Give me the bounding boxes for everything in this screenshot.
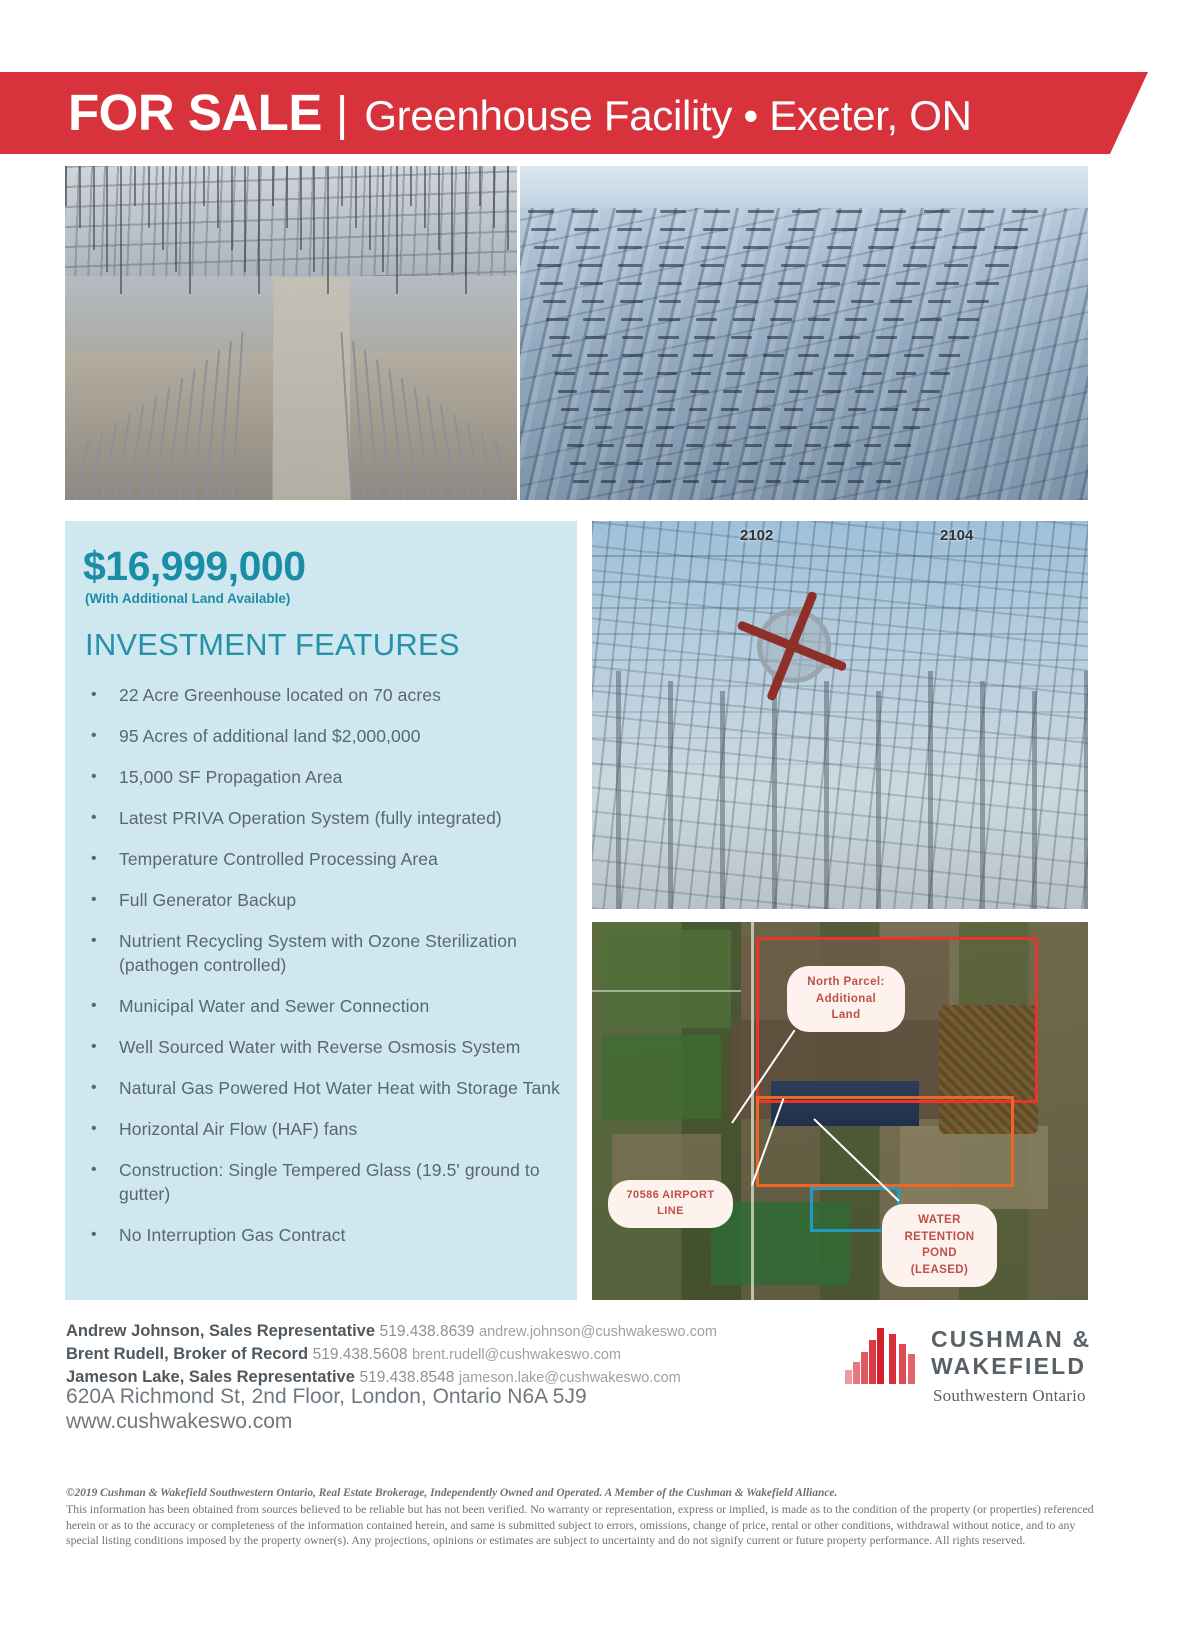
roof-vent	[659, 300, 682, 303]
hanging-wire	[465, 166, 467, 294]
roof-vent	[658, 336, 679, 339]
for-sale-title: FOR SALE	[68, 87, 322, 138]
hero-photo-strip	[65, 166, 1088, 500]
map-field	[602, 930, 731, 1028]
roof-vent	[656, 426, 674, 429]
hanging-wire	[189, 166, 191, 294]
logo-bar	[908, 1354, 915, 1384]
roof-vent	[540, 282, 563, 285]
support-column	[980, 681, 985, 909]
roof-vent	[746, 228, 771, 231]
roof-vent	[994, 246, 1019, 249]
roof-vent	[910, 246, 935, 249]
roof-vent	[659, 246, 684, 249]
roof-vent	[704, 210, 730, 213]
feature-text: Horizontal Air Flow (HAF) fans	[119, 1117, 357, 1141]
feature-item: •22 Acre Greenhouse located on 70 acres	[83, 683, 565, 707]
roof-vent	[890, 300, 913, 303]
roof-vent	[1003, 228, 1028, 231]
flyer-page: FOR SALE | Greenhouse Facility • Exeter,…	[0, 0, 1200, 1631]
price-value: $16,999,000	[83, 543, 306, 590]
roof-vent	[741, 264, 765, 267]
feature-text: 95 Acres of additional land $2,000,000	[119, 724, 421, 748]
roof-vent	[564, 426, 582, 429]
roof-vent	[748, 210, 774, 213]
aerial-site-map: North Parcel: Additional Land 70586 AIRP…	[592, 922, 1088, 1300]
roof-vent	[921, 390, 940, 393]
roof-vent	[924, 210, 950, 213]
roof-truss	[592, 763, 1088, 765]
roof-vent	[968, 210, 994, 213]
feature-text: Well Sourced Water with Reverse Osmosis …	[119, 1035, 520, 1059]
roof-vent	[903, 426, 921, 429]
roof-vent	[976, 282, 999, 285]
main-property-outline	[756, 1096, 1014, 1187]
greenhouse-pipe-rows	[65, 286, 517, 500]
roof-truss	[592, 711, 1088, 713]
hanging-wire	[65, 166, 67, 206]
heating-pipe	[88, 432, 103, 500]
roof-vent	[763, 354, 783, 357]
contact-name: Brent Rudell, Broker of Record	[66, 1345, 308, 1363]
hanging-wire	[148, 166, 150, 228]
feature-bullet-icon: •	[83, 929, 119, 953]
roof-vent	[936, 282, 959, 285]
map-road-horizontal	[592, 990, 741, 992]
roof-vent	[896, 282, 919, 285]
roof-vent	[957, 318, 979, 321]
roof-vent	[711, 480, 727, 483]
roof-vent	[736, 300, 759, 303]
hanging-wire	[479, 166, 481, 206]
contact-phone[interactable]: 519.438.8639	[380, 1323, 475, 1340]
feature-bullet-icon: •	[83, 1035, 119, 1059]
roof-vent	[874, 228, 899, 231]
disclaimer-body: This information has been obtained from …	[66, 1502, 1106, 1549]
roof-vent	[876, 336, 897, 339]
roof-vent	[888, 390, 907, 393]
feature-item: •Municipal Water and Sewer Connection	[83, 994, 565, 1018]
contact-email[interactable]: andrew.johnson@cushwakeswo.com	[479, 1324, 717, 1340]
roof-vent	[570, 462, 586, 465]
roof-vent	[827, 246, 852, 249]
hanging-wire	[244, 166, 246, 272]
bay-label-2102: 2102	[740, 527, 773, 544]
feature-item: •Full Generator Backup	[83, 888, 565, 912]
roof-vent	[716, 444, 733, 447]
roof-vent	[834, 354, 854, 357]
support-column	[824, 681, 829, 909]
roof-vent	[573, 480, 589, 483]
hanging-wire	[313, 166, 315, 272]
roof-vent	[657, 390, 676, 393]
feature-text: 15,000 SF Propagation Area	[119, 765, 342, 789]
heating-pipe	[340, 332, 353, 500]
roof-vent	[839, 336, 860, 339]
roof-vent	[623, 372, 643, 375]
roof-truss	[592, 737, 1088, 739]
support-column	[1032, 691, 1037, 909]
support-column	[1084, 671, 1088, 909]
feature-text: Temperature Controlled Processing Area	[119, 847, 438, 871]
disclaimer-copyright: ©2019 Cushman & Wakefield Southwestern O…	[66, 1486, 1106, 1501]
logo-bar	[845, 1370, 852, 1384]
roof-vent	[628, 480, 644, 483]
roof-vent	[659, 264, 683, 267]
roof-vent	[792, 210, 818, 213]
website-url[interactable]: www.cushwakeswo.com	[66, 1409, 292, 1434]
hanging-wire	[438, 166, 440, 250]
feature-item: •Natural Gas Powered Hot Water Heat with…	[83, 1076, 565, 1100]
roof-vent	[718, 426, 736, 429]
roof-vent	[696, 318, 718, 321]
feature-item: •95 Acres of additional land $2,000,000	[83, 724, 565, 748]
roof-vent	[794, 372, 814, 375]
roof-vent	[583, 318, 605, 321]
contact-email[interactable]: brent.rudell@cushwakeswo.com	[412, 1347, 621, 1363]
feature-bullet-icon: •	[83, 847, 119, 871]
roof-truss	[592, 607, 1088, 609]
roof-vent	[872, 426, 890, 429]
investment-features-list: •22 Acre Greenhouse located on 70 acres•…	[83, 683, 565, 1264]
roof-vent	[534, 246, 559, 249]
roof-vent	[531, 228, 556, 231]
roof-vent	[857, 282, 880, 285]
feature-text: No Interruption Gas Contract	[119, 1223, 346, 1247]
roof-vent	[622, 336, 643, 339]
header-banner: FOR SALE | Greenhouse Facility • Exeter,…	[0, 72, 1148, 154]
roof-vent	[549, 336, 570, 339]
heating-pipe	[495, 441, 509, 500]
roof-vent	[816, 408, 834, 411]
roof-vent	[697, 300, 720, 303]
roof-vent	[625, 408, 643, 411]
roof-vent	[713, 462, 729, 465]
roof-vent	[591, 390, 610, 393]
roof-vent	[660, 210, 686, 213]
roof-vent	[578, 264, 602, 267]
roof-vent-panels	[520, 166, 1088, 500]
hanging-wire	[203, 166, 205, 206]
hanging-wire	[286, 166, 288, 228]
roof-vent	[828, 372, 848, 375]
investment-features-heading: INVESTMENT FEATURES	[85, 627, 460, 663]
roof-vent	[834, 444, 851, 447]
hanging-wire	[93, 166, 95, 250]
roof-vent	[617, 228, 642, 231]
roof-vent	[845, 318, 867, 321]
roof-vent	[574, 228, 599, 231]
roof-vent	[756, 390, 775, 393]
callout-airport-line: 70586 AIRPORT LINE	[608, 1180, 733, 1228]
hanging-wire	[507, 166, 509, 250]
roof-vent	[904, 354, 924, 357]
heating-pipe	[480, 432, 495, 500]
roof-vent	[836, 210, 862, 213]
feature-item: •Construction: Single Tempered Glass (19…	[83, 1158, 565, 1206]
roof-vent	[848, 480, 864, 483]
greenhouse-hanging-wires	[65, 166, 517, 286]
roof-vent	[813, 300, 836, 303]
roof-vent	[903, 264, 927, 267]
building-mark-icon	[845, 1328, 919, 1384]
roof-vent	[733, 318, 755, 321]
feature-text: Full Generator Backup	[119, 888, 296, 912]
feature-text: Nutrient Recycling System with Ozone Ste…	[119, 929, 565, 977]
roof-vent	[683, 480, 699, 483]
roof-vent	[543, 300, 566, 303]
feature-item: •Well Sourced Water with Reverse Osmosis…	[83, 1035, 565, 1059]
roof-vent	[883, 318, 905, 321]
feature-bullet-icon: •	[83, 765, 119, 789]
roof-vent	[742, 462, 758, 465]
header-divider: |	[336, 91, 348, 139]
contact-row: Andrew Johnson, Sales Representative 519…	[66, 1320, 766, 1343]
logo-bar	[869, 1340, 876, 1384]
roof-vent	[789, 390, 808, 393]
heating-pipe	[231, 332, 244, 500]
roof-vent	[691, 372, 711, 375]
roof-vent	[659, 282, 682, 285]
roof-vent	[593, 408, 611, 411]
feature-bullet-icon: •	[83, 683, 119, 707]
roof-vent	[689, 408, 707, 411]
feature-item: •No Interruption Gas Contract	[83, 1223, 565, 1247]
roof-vent	[885, 462, 901, 465]
roof-vent	[738, 480, 754, 483]
hanging-wire	[355, 166, 357, 228]
roof-vent	[863, 264, 887, 267]
hanging-wire	[175, 166, 177, 272]
feature-bullet-icon: •	[83, 1223, 119, 1247]
investment-panel: $16,999,000 (With Additional Land Availa…	[65, 521, 577, 1300]
support-column	[876, 691, 881, 909]
hanging-wire	[382, 166, 384, 272]
roof-vent	[621, 318, 643, 321]
roof-vent	[558, 390, 577, 393]
feature-item: •Temperature Controlled Processing Area	[83, 847, 565, 871]
roof-vent	[799, 462, 815, 465]
roof-vent	[774, 300, 797, 303]
roof-vent	[589, 372, 609, 375]
roof-vent	[827, 462, 843, 465]
roof-vent	[880, 408, 898, 411]
map-road-vertical	[751, 922, 754, 1300]
hanging-wire	[106, 166, 108, 272]
roof-vent	[658, 354, 678, 357]
roof-vent	[745, 444, 762, 447]
hanging-wire	[410, 166, 412, 206]
roof-vent	[618, 264, 642, 267]
roof-vent	[985, 264, 1009, 267]
hanging-wire	[300, 166, 302, 250]
greenhouse-bay-photo: 2102 2104	[592, 521, 1088, 909]
contact-list: Andrew Johnson, Sales Representative 519…	[66, 1320, 766, 1389]
roof-vent	[626, 444, 643, 447]
logo-tagline: Southwestern Ontario	[933, 1386, 1086, 1406]
hanging-wire	[162, 166, 164, 250]
heating-pipe	[218, 341, 232, 500]
contact-name: Andrew Johnson, Sales Representative	[66, 1322, 375, 1340]
roof-vent	[928, 300, 951, 303]
roof-vent	[622, 354, 642, 357]
map-field	[602, 1035, 721, 1118]
roof-vent	[587, 354, 607, 357]
hanging-wire	[451, 166, 453, 272]
header-subtitle: Greenhouse Facility • Exeter, ON	[364, 95, 971, 137]
feature-bullet-icon: •	[83, 1076, 119, 1100]
logo-bar	[877, 1328, 884, 1384]
roof-vent	[585, 336, 606, 339]
logo-bar	[899, 1344, 906, 1384]
feature-item: •15,000 SF Propagation Area	[83, 765, 565, 789]
header-banner-text: FOR SALE | Greenhouse Facility • Exeter,…	[0, 87, 972, 139]
hanging-wire	[493, 166, 495, 228]
support-column	[616, 671, 621, 909]
hanging-wire	[396, 166, 398, 294]
contact-phone[interactable]: 519.438.5608	[313, 1346, 408, 1363]
roof-vent	[930, 372, 950, 375]
roof-vent	[784, 408, 802, 411]
roof-vent	[817, 282, 840, 285]
roof-vent	[967, 300, 990, 303]
roof-vent	[576, 246, 601, 249]
roof-vent	[660, 228, 685, 231]
roof-vent	[656, 462, 672, 465]
roof-vent	[657, 408, 675, 411]
roof-vent	[864, 444, 881, 447]
feature-text: 22 Acre Greenhouse located on 70 acres	[119, 683, 441, 707]
roof-vent	[785, 246, 810, 249]
roof-vent	[616, 210, 642, 213]
roof-vent	[770, 462, 786, 465]
roof-vent	[703, 228, 728, 231]
roof-vent	[690, 390, 709, 393]
logo-bar	[853, 1362, 860, 1384]
roof-vent	[686, 444, 703, 447]
feature-text: Municipal Water and Sewer Connection	[119, 994, 429, 1018]
roof-vent	[821, 480, 837, 483]
roof-vent	[618, 246, 643, 249]
logo-bar	[889, 1334, 896, 1384]
logo-bar	[861, 1352, 868, 1384]
feature-item: •Horizontal Air Flow (HAF) fans	[83, 1117, 565, 1141]
roof-vent	[693, 354, 713, 357]
roof-vent	[851, 300, 874, 303]
roof-vent	[948, 336, 969, 339]
roof-vent	[766, 480, 782, 483]
roof-vent	[862, 372, 882, 375]
roof-vent	[912, 336, 933, 339]
roof-vent	[743, 246, 768, 249]
hanging-wire	[341, 166, 343, 206]
roof-vent	[793, 480, 809, 483]
legal-disclaimer: ©2019 Cushman & Wakefield Southwestern O…	[66, 1486, 1106, 1549]
heating-pipe	[205, 350, 220, 500]
roof-vent	[694, 336, 715, 339]
roof-vent	[728, 354, 748, 357]
roof-vent	[552, 354, 572, 357]
roof-vent	[738, 282, 761, 285]
roof-vent	[752, 408, 770, 411]
roof-vent	[582, 300, 605, 303]
logo-line1: CUSHMAN &	[931, 1326, 1091, 1352]
roof-vent	[912, 408, 930, 411]
roof-vent	[960, 228, 985, 231]
roof-vent	[770, 318, 792, 321]
roof-vent	[798, 354, 818, 357]
roof-vent	[721, 408, 739, 411]
roof-vent	[749, 426, 767, 429]
roof-vent	[619, 282, 642, 285]
roof-vent	[760, 372, 780, 375]
hanging-wire	[369, 166, 371, 250]
roof-vent	[778, 282, 801, 285]
roof-vent	[808, 318, 830, 321]
roof-vent	[855, 390, 874, 393]
roof-vent	[624, 390, 643, 393]
roof-vent	[626, 426, 644, 429]
roof-vent	[810, 426, 828, 429]
roof-vent	[595, 426, 613, 429]
roof-vent	[657, 372, 677, 375]
roof-vent	[684, 462, 700, 465]
roof-vent	[767, 336, 788, 339]
roof-vent	[894, 444, 911, 447]
feature-text: Latest PRIVA Operation System (fully int…	[119, 806, 502, 830]
callout-pond-line2: POND (LEASED)	[911, 1247, 969, 1276]
roof-vent	[917, 228, 942, 231]
support-column	[928, 671, 933, 909]
feature-bullet-icon: •	[83, 994, 119, 1018]
hanging-wire	[217, 166, 219, 228]
roof-vent	[788, 228, 813, 231]
roof-vent	[537, 264, 561, 267]
bay-label-2104: 2104	[940, 527, 973, 544]
roof-vent	[572, 210, 598, 213]
roof-truss	[592, 685, 1088, 687]
heating-pipe	[75, 441, 89, 500]
roof-vent	[546, 318, 568, 321]
roof-vent	[822, 264, 846, 267]
roof-vent	[567, 444, 584, 447]
roof-vent	[831, 228, 856, 231]
feature-item: •Nutrient Recycling System with Ozone St…	[83, 929, 565, 977]
roof-vent	[803, 336, 824, 339]
callout-water-retention-pond: WATER RETENTION POND (LEASED)	[882, 1204, 997, 1287]
support-column	[772, 671, 777, 909]
hanging-wire	[327, 166, 329, 294]
hanging-wire	[231, 166, 233, 250]
roof-vent	[599, 462, 615, 465]
roof-vent	[656, 444, 673, 447]
roof-vent	[939, 354, 959, 357]
cushman-wakefield-logo: CUSHMAN & WAKEFIELD Southwestern Ontario	[845, 1326, 1095, 1416]
roof-vent	[896, 372, 916, 375]
hanging-wire	[120, 166, 122, 294]
greenhouse-interior-photo	[65, 166, 517, 500]
support-column	[720, 691, 725, 909]
greenhouse-roof-aerial-photo	[520, 166, 1088, 500]
feature-bullet-icon: •	[83, 888, 119, 912]
callout-north-line1: North Parcel:	[807, 976, 884, 988]
feature-bullet-icon: •	[83, 724, 119, 748]
feature-text: Natural Gas Powered Hot Water Heat with …	[119, 1076, 560, 1100]
roof-vent	[620, 300, 643, 303]
feature-bullet-icon: •	[83, 1117, 119, 1141]
roof-vent	[580, 282, 603, 285]
roof-truss	[592, 581, 1088, 583]
